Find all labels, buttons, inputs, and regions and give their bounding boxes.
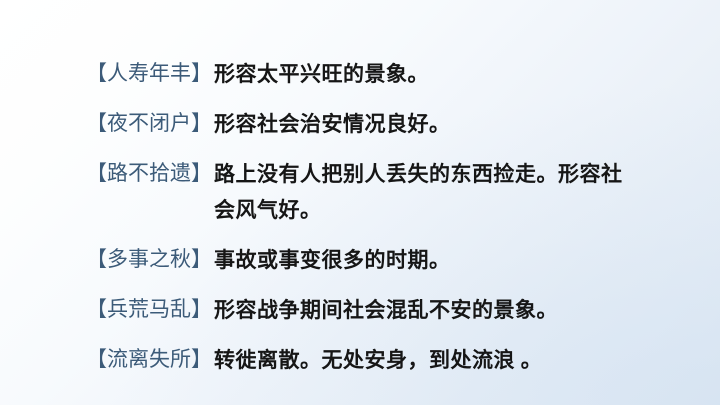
idiom-definition: 形容社会治安情况良好。	[214, 106, 634, 142]
list-item: 【人寿年丰】 形容太平兴旺的景象。	[86, 56, 696, 92]
idiom-term: 【多事之秋】	[86, 242, 214, 278]
idiom-term: 【流离失所】	[86, 342, 214, 378]
idiom-entry-list: 【人寿年丰】 形容太平兴旺的景象。 【夜不闭户】 形容社会治安情况良好。 【路不…	[86, 56, 696, 378]
idiom-term: 【路不拾遗】	[86, 156, 214, 192]
idiom-term: 【人寿年丰】	[86, 56, 214, 92]
list-item: 【流离失所】 转徙离散。无处安身，到处流浪 。	[86, 342, 696, 378]
list-item: 【兵荒马乱】 形容战争期间社会混乱不安的景象。	[86, 292, 696, 328]
idiom-term: 【夜不闭户】	[86, 106, 214, 142]
list-item: 【夜不闭户】 形容社会治安情况良好。	[86, 106, 696, 142]
slide-canvas: 【人寿年丰】 形容太平兴旺的景象。 【夜不闭户】 形容社会治安情况良好。 【路不…	[0, 0, 720, 405]
idiom-definition: 形容太平兴旺的景象。	[214, 56, 634, 92]
idiom-definition: 形容战争期间社会混乱不安的景象。	[214, 292, 634, 328]
list-item: 【多事之秋】 事故或事变很多的时期。	[86, 242, 696, 278]
list-item: 【路不拾遗】 路上没有人把别人丢失的东西捡走。形容社会风气好。	[86, 156, 696, 228]
idiom-definition: 转徙离散。无处安身，到处流浪 。	[214, 342, 634, 378]
idiom-term: 【兵荒马乱】	[86, 292, 214, 328]
idiom-definition: 事故或事变很多的时期。	[214, 242, 634, 278]
idiom-definition: 路上没有人把别人丢失的东西捡走。形容社会风气好。	[214, 156, 634, 228]
